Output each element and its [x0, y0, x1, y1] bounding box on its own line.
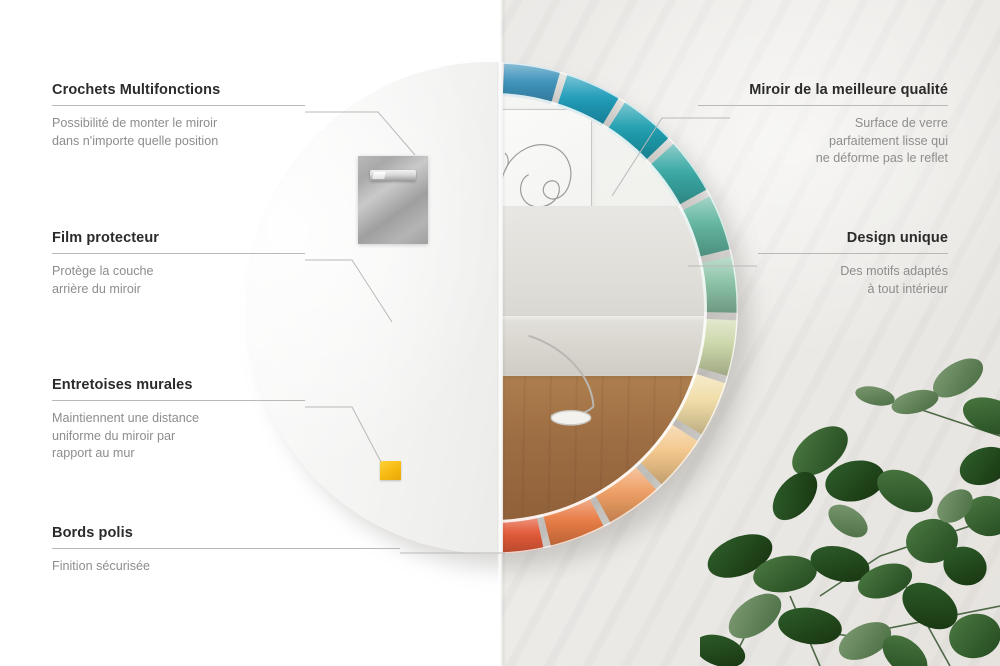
product-mirror — [246, 62, 738, 554]
callout-title: Film protecteur — [52, 230, 305, 246]
callout-title: Miroir de la meilleure qualité — [698, 82, 948, 98]
panel-split-edge — [497, 0, 506, 666]
mounting-hook-plate — [358, 156, 428, 244]
callout-entretoises-murales: Entretoises murales Maintiennent une dis… — [52, 377, 305, 463]
callout-crochets-multifonctions: Crochets Multifonctions Possibilité de m… — [52, 82, 305, 150]
callout-rule — [52, 253, 305, 254]
lamp-shape — [513, 333, 657, 460]
callout-title: Entretoises murales — [52, 377, 305, 393]
callout-description: Des motifs adaptés à tout intérieur — [758, 263, 948, 298]
callout-description: Finition sécurisée — [52, 558, 400, 576]
callout-description: Protège la couche arrière du miroir — [52, 263, 305, 298]
callout-title: Design unique — [758, 230, 948, 246]
wall-spacer-chip — [380, 461, 401, 480]
callout-description: Maintiennent une distance uniforme du mi… — [52, 410, 305, 463]
callout-rule — [52, 105, 305, 106]
floor-lamp — [513, 333, 657, 460]
callout-film-protecteur: Film protecteur Protège la couche arrièr… — [52, 230, 305, 298]
infographic-canvas: Crochets Multifonctions Possibilité de m… — [0, 0, 1000, 666]
hanging-hook-bar — [370, 170, 416, 181]
callout-rule — [52, 400, 305, 401]
mirror-body — [246, 62, 738, 554]
callout-title: Bords polis — [52, 525, 400, 541]
plant-svg — [700, 306, 1000, 666]
callout-bords-polis: Bords polis Finition sécurisée — [52, 525, 400, 576]
callout-rule — [698, 105, 948, 106]
callout-description: Possibilité de monter le miroir dans n'i… — [52, 115, 305, 150]
callout-rule — [758, 253, 948, 254]
callout-description: Surface de verre parfaitement lisse qui … — [698, 115, 948, 168]
eucalyptus-foliage — [700, 306, 1000, 666]
callout-rule — [52, 548, 400, 549]
callout-miroir-meilleure-qualite: Miroir de la meilleure qualité Surface d… — [698, 82, 948, 168]
callout-title: Crochets Multifonctions — [52, 82, 305, 98]
callout-design-unique: Design unique Des motifs adaptés à tout … — [758, 230, 948, 298]
